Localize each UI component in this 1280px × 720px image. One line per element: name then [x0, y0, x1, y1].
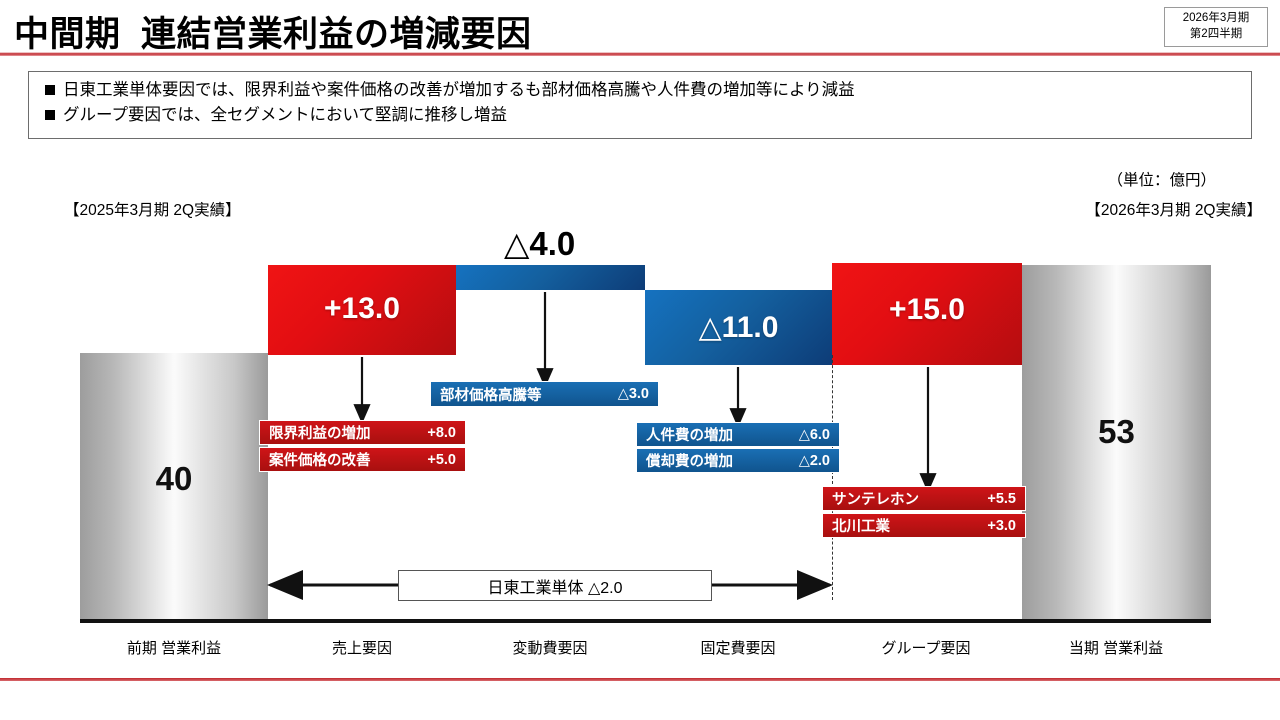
callout-name: 北川工業: [832, 515, 890, 536]
bar-fixed-cost-factor: △11.0: [645, 290, 832, 365]
callout-depreciation-increase: 償却費の増加 △2.0: [636, 448, 840, 473]
bar-value-previous: 40: [80, 460, 268, 498]
bar-value-group: +15.0: [832, 293, 1022, 327]
callout-kitagawa-industries: 北川工業 +3.0: [822, 513, 1026, 538]
callout-project-price-improvement: 案件価格の改善 +5.0: [259, 447, 466, 472]
bar-previous-operating-profit: 40: [80, 353, 268, 619]
slide-canvas: 中間期 連結営業利益の増減要因 2026年3月期 第2四半期 日東工業単体要因で…: [0, 0, 1280, 720]
callout-value: +8.0: [413, 425, 456, 441]
callout-name: 人件費の増加: [646, 424, 733, 445]
category-label-variable-cost: 変動費要因: [512, 637, 587, 658]
bar-group-factor: +15.0: [832, 263, 1022, 365]
callout-name: サンテレホン: [832, 488, 919, 509]
bar-current-operating-profit: 53: [1022, 265, 1211, 619]
callout-name: 案件価格の改善: [269, 449, 371, 470]
bar-value-sales: +13.0: [268, 292, 456, 326]
bar-value-current: 53: [1022, 413, 1211, 451]
callout-marginal-profit-increase: 限界利益の増加 +8.0: [259, 420, 466, 445]
category-label-current-profit: 当期 営業利益: [1069, 637, 1163, 658]
category-label-sales-factor: 売上要因: [332, 637, 392, 658]
callout-value: △6.0: [785, 427, 830, 443]
callout-name: 償却費の増加: [646, 450, 733, 471]
standalone-change-label: 日東工業単体 △2.0: [398, 570, 712, 601]
callout-name: 部材価格高騰等: [440, 384, 542, 405]
callout-suntelephone: サンテレホン +5.5: [822, 486, 1026, 511]
bar-variable-cost-factor: [456, 265, 645, 290]
callout-value: △3.0: [604, 386, 649, 402]
callout-material-price-surge: 部材価格高騰等 △3.0: [430, 381, 659, 407]
bar-value-fixed: △11.0: [645, 310, 832, 345]
bar-sales-factor: +13.0: [268, 265, 456, 355]
callout-labor-cost-increase: 人件費の増加 △6.0: [636, 422, 840, 447]
callout-name: 限界利益の増加: [269, 422, 371, 443]
callout-value: +3.0: [973, 518, 1016, 534]
callout-value: +5.0: [413, 452, 456, 468]
segment-divider: [832, 355, 833, 600]
callout-value: △2.0: [785, 453, 830, 469]
waterfall-chart: 40 +13.0 △11.0 +15.0 53: [0, 0, 1280, 720]
category-label-fixed-cost: 固定費要因: [700, 637, 775, 658]
chart-baseline: [80, 619, 1211, 623]
callout-value: +5.5: [973, 491, 1016, 507]
category-label-group-factor: グループ要因: [881, 637, 970, 658]
footer: NiTO NITTO KOGYO GROUP 8 Copyright©2025 …: [0, 681, 1280, 720]
category-label-previous-profit: 前期 営業利益: [127, 637, 221, 658]
